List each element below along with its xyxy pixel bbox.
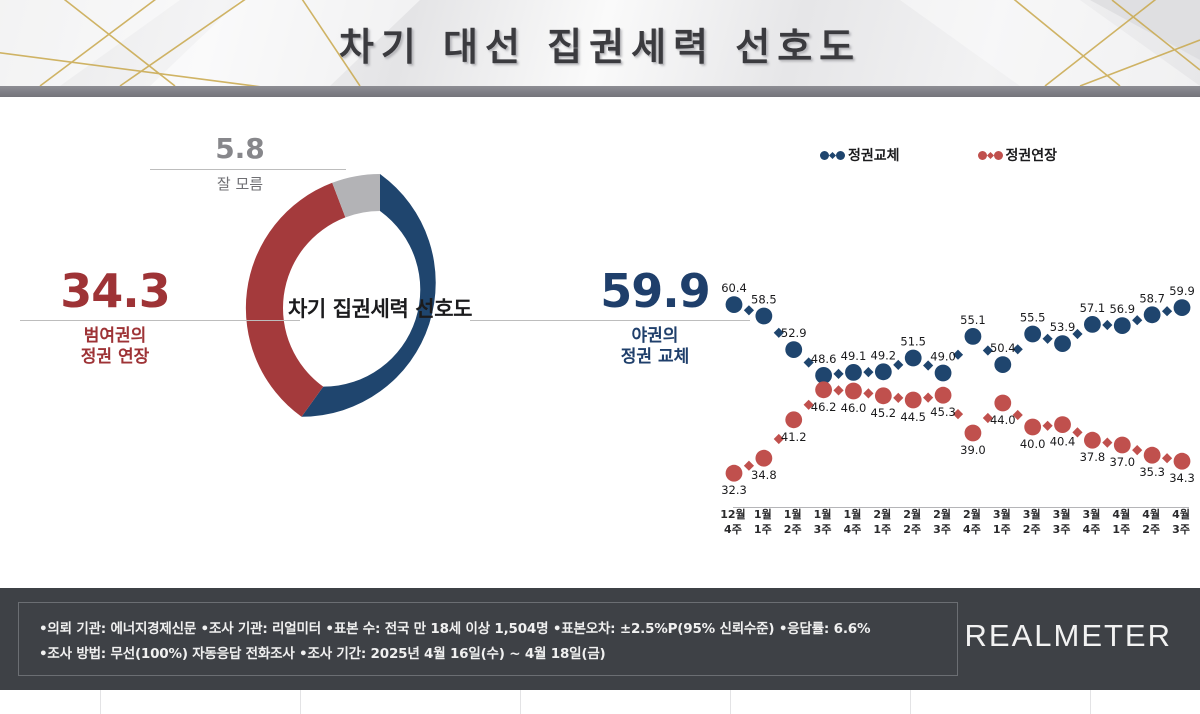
realmeter-logo: REALMETER bbox=[965, 618, 1172, 654]
x-axis-tick-13: 4월1주 bbox=[1106, 508, 1136, 556]
x-axis-tick-6: 2월2주 bbox=[897, 508, 927, 556]
data-label-정권교체-12: 57.1 bbox=[1080, 301, 1106, 315]
x-axis-tick-1: 1월1주 bbox=[748, 508, 778, 556]
x-axis-tick-3: 1월3주 bbox=[808, 508, 838, 556]
x-axis-tick-9: 3월1주 bbox=[987, 508, 1017, 556]
callout-rule bbox=[20, 320, 300, 321]
footer-line-2: •조사 방법: 무선(100%) 자동응답 전화조사 •조사 기간: 2025년… bbox=[39, 642, 937, 662]
data-point-정권교체-0 bbox=[726, 296, 743, 313]
data-label-정권교체-1: 58.5 bbox=[751, 293, 777, 307]
x-tick-month: 2월 bbox=[927, 508, 957, 523]
data-label-정권교체-9: 50.4 bbox=[990, 341, 1016, 355]
data-point-정권연장-14 bbox=[1144, 447, 1161, 464]
x-tick-week: 4주 bbox=[718, 523, 748, 538]
data-label-정권교체-4: 49.1 bbox=[841, 349, 867, 363]
data-label-정권연장-5: 45.2 bbox=[871, 406, 897, 420]
data-point-정권연장-7 bbox=[935, 387, 952, 404]
data-label-정권연장-12: 37.8 bbox=[1080, 450, 1106, 464]
x-axis-tick-10: 3월2주 bbox=[1017, 508, 1047, 556]
data-label-정권연장-0: 32.3 bbox=[721, 483, 747, 497]
data-point-정권연장-8 bbox=[965, 425, 982, 442]
x-axis-tick-8: 2월4주 bbox=[957, 508, 987, 556]
line-connector-marker bbox=[863, 388, 873, 398]
data-label-정권연장-2: 41.2 bbox=[781, 430, 807, 444]
x-tick-month: 2월 bbox=[867, 508, 897, 523]
line-connector-marker bbox=[1162, 306, 1172, 316]
data-point-정권연장-1 bbox=[755, 450, 772, 467]
data-point-정권교체-8 bbox=[965, 328, 982, 345]
x-tick-month: 12월 bbox=[718, 508, 748, 523]
data-label-정권연장-1: 34.8 bbox=[751, 468, 777, 482]
line-connector-marker bbox=[1043, 334, 1053, 344]
legend-item-change: 정권교체 bbox=[820, 145, 900, 165]
line-connector-marker bbox=[1162, 453, 1172, 463]
data-point-정권연장-10 bbox=[1024, 419, 1041, 436]
x-tick-week: 2주 bbox=[778, 523, 808, 538]
data-label-정권연장-10: 40.0 bbox=[1020, 437, 1046, 451]
data-label-정권교체-3: 48.6 bbox=[811, 352, 837, 366]
data-point-정권교체-13 bbox=[1114, 317, 1131, 334]
data-point-정권연장-2 bbox=[785, 411, 802, 428]
x-tick-month: 2월 bbox=[897, 508, 927, 523]
trend-line-svg: 60.458.552.948.649.149.251.549.055.150.4… bbox=[718, 255, 1196, 525]
data-point-정권연장-13 bbox=[1114, 437, 1131, 454]
x-axis-tick-2: 1월2주 bbox=[778, 508, 808, 556]
legend-label-change: 정권교체 bbox=[848, 145, 900, 165]
data-label-정권연장-3: 46.2 bbox=[811, 400, 837, 414]
data-point-정권교체-14 bbox=[1144, 306, 1161, 323]
footer-line-1: •의뢰 기관: 에너지경제신문 •조사 기관: 리얼미터 •표본 수: 전국 만… bbox=[39, 617, 937, 637]
x-tick-month: 3월 bbox=[1047, 508, 1077, 523]
page-title: 차기 대선 집권세력 선호도 bbox=[0, 0, 1200, 86]
x-tick-week: 4주 bbox=[1077, 523, 1107, 538]
line-connector-marker bbox=[863, 367, 873, 377]
x-axis-tick-14: 4월2주 bbox=[1136, 508, 1166, 556]
x-tick-week: 2주 bbox=[897, 523, 927, 538]
infographic-page: 차기 대선 집권세력 선호도 차기 집권세력 선호도 5.8 잘 모름 34.3… bbox=[0, 0, 1200, 714]
x-tick-week: 3주 bbox=[927, 523, 957, 538]
line-connector-marker bbox=[1102, 438, 1112, 448]
callout-extend: 34.3 범여권의 정권 연장 bbox=[20, 268, 210, 367]
data-label-정권교체-6: 51.5 bbox=[900, 335, 926, 349]
x-tick-month: 4월 bbox=[1136, 508, 1166, 523]
x-tick-month: 2월 bbox=[957, 508, 987, 523]
data-point-정권교체-2 bbox=[785, 341, 802, 358]
x-axis-tick-5: 2월1주 bbox=[867, 508, 897, 556]
x-tick-week: 3주 bbox=[1047, 523, 1077, 538]
data-point-정권교체-7 bbox=[935, 365, 952, 382]
data-point-정권교체-15 bbox=[1174, 299, 1191, 316]
data-point-정권교체-9 bbox=[994, 356, 1011, 373]
x-axis-tick-4: 1월4주 bbox=[838, 508, 868, 556]
x-tick-month: 3월 bbox=[1017, 508, 1047, 523]
x-axis-tick-12: 3월4주 bbox=[1077, 508, 1107, 556]
line-connector-marker bbox=[893, 393, 903, 403]
donut-chart: 차기 집권세력 선호도 bbox=[230, 158, 530, 458]
x-tick-week: 4주 bbox=[957, 523, 987, 538]
footer-method-box: •의뢰 기관: 에너지경제신문 •조사 기관: 리얼미터 •표본 수: 전국 만… bbox=[18, 602, 958, 676]
data-point-정권교체-5 bbox=[875, 363, 892, 380]
line-connector-marker bbox=[923, 393, 933, 403]
line-connector-marker bbox=[833, 369, 843, 379]
data-label-정권교체-2: 52.9 bbox=[781, 326, 807, 340]
extend-label-line1: 범여권의 bbox=[20, 326, 210, 347]
data-point-정권교체-3 bbox=[815, 367, 832, 384]
legend-item-extend: 정권연장 bbox=[978, 145, 1058, 165]
x-tick-week: 2주 bbox=[1017, 523, 1047, 538]
footer-bar: •의뢰 기관: 에너지경제신문 •조사 기관: 리얼미터 •표본 수: 전국 만… bbox=[0, 588, 1200, 690]
data-label-정권교체-8: 55.1 bbox=[960, 313, 986, 327]
data-point-정권연장-15 bbox=[1174, 453, 1191, 470]
line-connector-marker bbox=[1043, 421, 1053, 431]
line-connector-marker bbox=[1132, 445, 1142, 455]
dontknow-label: 잘 모름 bbox=[150, 175, 330, 193]
x-tick-month: 4월 bbox=[1166, 508, 1196, 523]
callout-rule bbox=[470, 320, 750, 321]
data-point-정권연장-3 bbox=[815, 381, 832, 398]
data-label-정권연장-8: 39.0 bbox=[960, 443, 986, 457]
data-point-정권연장-6 bbox=[905, 392, 922, 409]
bottom-strip bbox=[0, 690, 1200, 714]
chart-legend: 정권교체 정권연장 bbox=[820, 145, 1057, 165]
trend-line-chart: 60.458.552.948.649.149.251.549.055.150.4… bbox=[718, 255, 1196, 525]
x-tick-week: 1주 bbox=[987, 523, 1017, 538]
data-label-정권연장-7: 45.3 bbox=[930, 405, 956, 419]
data-label-정권연장-4: 46.0 bbox=[841, 401, 867, 415]
data-label-정권교체-10: 55.5 bbox=[1020, 311, 1046, 325]
data-point-정권교체-10 bbox=[1024, 326, 1041, 343]
data-label-정권연장-15: 34.3 bbox=[1169, 471, 1195, 485]
data-label-정권교체-15: 59.9 bbox=[1169, 284, 1195, 298]
header-divider-bar bbox=[0, 86, 1200, 97]
x-tick-month: 3월 bbox=[987, 508, 1017, 523]
data-label-정권교체-13: 56.9 bbox=[1109, 302, 1135, 316]
header-banner: 차기 대선 집권세력 선호도 bbox=[0, 0, 1200, 86]
line-connector-marker bbox=[833, 385, 843, 395]
x-axis-tick-15: 4월3주 bbox=[1166, 508, 1196, 556]
callout-dontknow: 5.8 잘 모름 bbox=[150, 135, 330, 193]
line-connector-marker bbox=[1102, 320, 1112, 330]
data-label-정권교체-0: 60.4 bbox=[721, 281, 747, 295]
x-tick-week: 1주 bbox=[867, 523, 897, 538]
x-tick-week: 3주 bbox=[808, 523, 838, 538]
data-point-정권연장-0 bbox=[726, 465, 743, 482]
line-connector-marker bbox=[744, 305, 754, 315]
x-tick-month: 4월 bbox=[1106, 508, 1136, 523]
data-point-정권연장-11 bbox=[1054, 416, 1071, 433]
data-label-정권연장-13: 37.0 bbox=[1109, 455, 1135, 469]
data-point-정권연장-9 bbox=[994, 395, 1011, 412]
extend-label-line2: 정권 연장 bbox=[20, 347, 210, 368]
data-point-정권교체-12 bbox=[1084, 316, 1101, 333]
data-point-정권교체-1 bbox=[755, 308, 772, 325]
x-tick-month: 1월 bbox=[748, 508, 778, 523]
x-tick-month: 1월 bbox=[838, 508, 868, 523]
x-tick-week: 1주 bbox=[1106, 523, 1136, 538]
data-point-정권교체-6 bbox=[905, 350, 922, 367]
x-tick-month: 1월 bbox=[808, 508, 838, 523]
x-tick-week: 4주 bbox=[838, 523, 868, 538]
line-marker-icon bbox=[978, 151, 1003, 160]
x-tick-week: 2주 bbox=[1136, 523, 1166, 538]
data-label-정권교체-14: 58.7 bbox=[1139, 291, 1165, 305]
x-axis-tick-0: 12월4주 bbox=[718, 508, 748, 556]
line-connector-marker bbox=[1132, 315, 1142, 325]
x-axis-tick-7: 2월3주 bbox=[927, 508, 957, 556]
data-point-정권연장-5 bbox=[875, 387, 892, 404]
callout-rule bbox=[150, 169, 346, 170]
data-point-정권교체-11 bbox=[1054, 335, 1071, 352]
dontknow-value: 5.8 bbox=[150, 135, 330, 163]
data-label-정권연장-6: 44.5 bbox=[900, 410, 926, 424]
extend-value: 34.3 bbox=[20, 268, 210, 314]
data-point-정권교체-4 bbox=[845, 364, 862, 381]
line-marker-icon bbox=[820, 151, 845, 160]
x-axis-tick-11: 3월3주 bbox=[1047, 508, 1077, 556]
x-tick-month: 3월 bbox=[1077, 508, 1107, 523]
x-tick-week: 1주 bbox=[748, 523, 778, 538]
data-label-정권연장-11: 40.4 bbox=[1050, 435, 1076, 449]
data-label-정권연장-9: 44.0 bbox=[990, 413, 1016, 427]
data-label-정권교체-5: 49.2 bbox=[871, 348, 897, 362]
data-label-정권연장-14: 35.3 bbox=[1139, 465, 1165, 479]
x-tick-week: 3주 bbox=[1166, 523, 1196, 538]
legend-label-extend: 정권연장 bbox=[1006, 145, 1058, 165]
donut-center-label: 차기 집권세력 선호도 bbox=[230, 158, 530, 458]
data-point-정권연장-4 bbox=[845, 383, 862, 400]
data-label-정권교체-11: 53.9 bbox=[1050, 320, 1076, 334]
data-label-정권교체-7: 49.0 bbox=[930, 350, 956, 364]
chart-x-axis: 12월4주1월1주1월2주1월3주1월4주2월1주2월2주2월3주2월4주3월1… bbox=[718, 508, 1196, 556]
data-point-정권연장-12 bbox=[1084, 432, 1101, 449]
x-tick-month: 1월 bbox=[778, 508, 808, 523]
